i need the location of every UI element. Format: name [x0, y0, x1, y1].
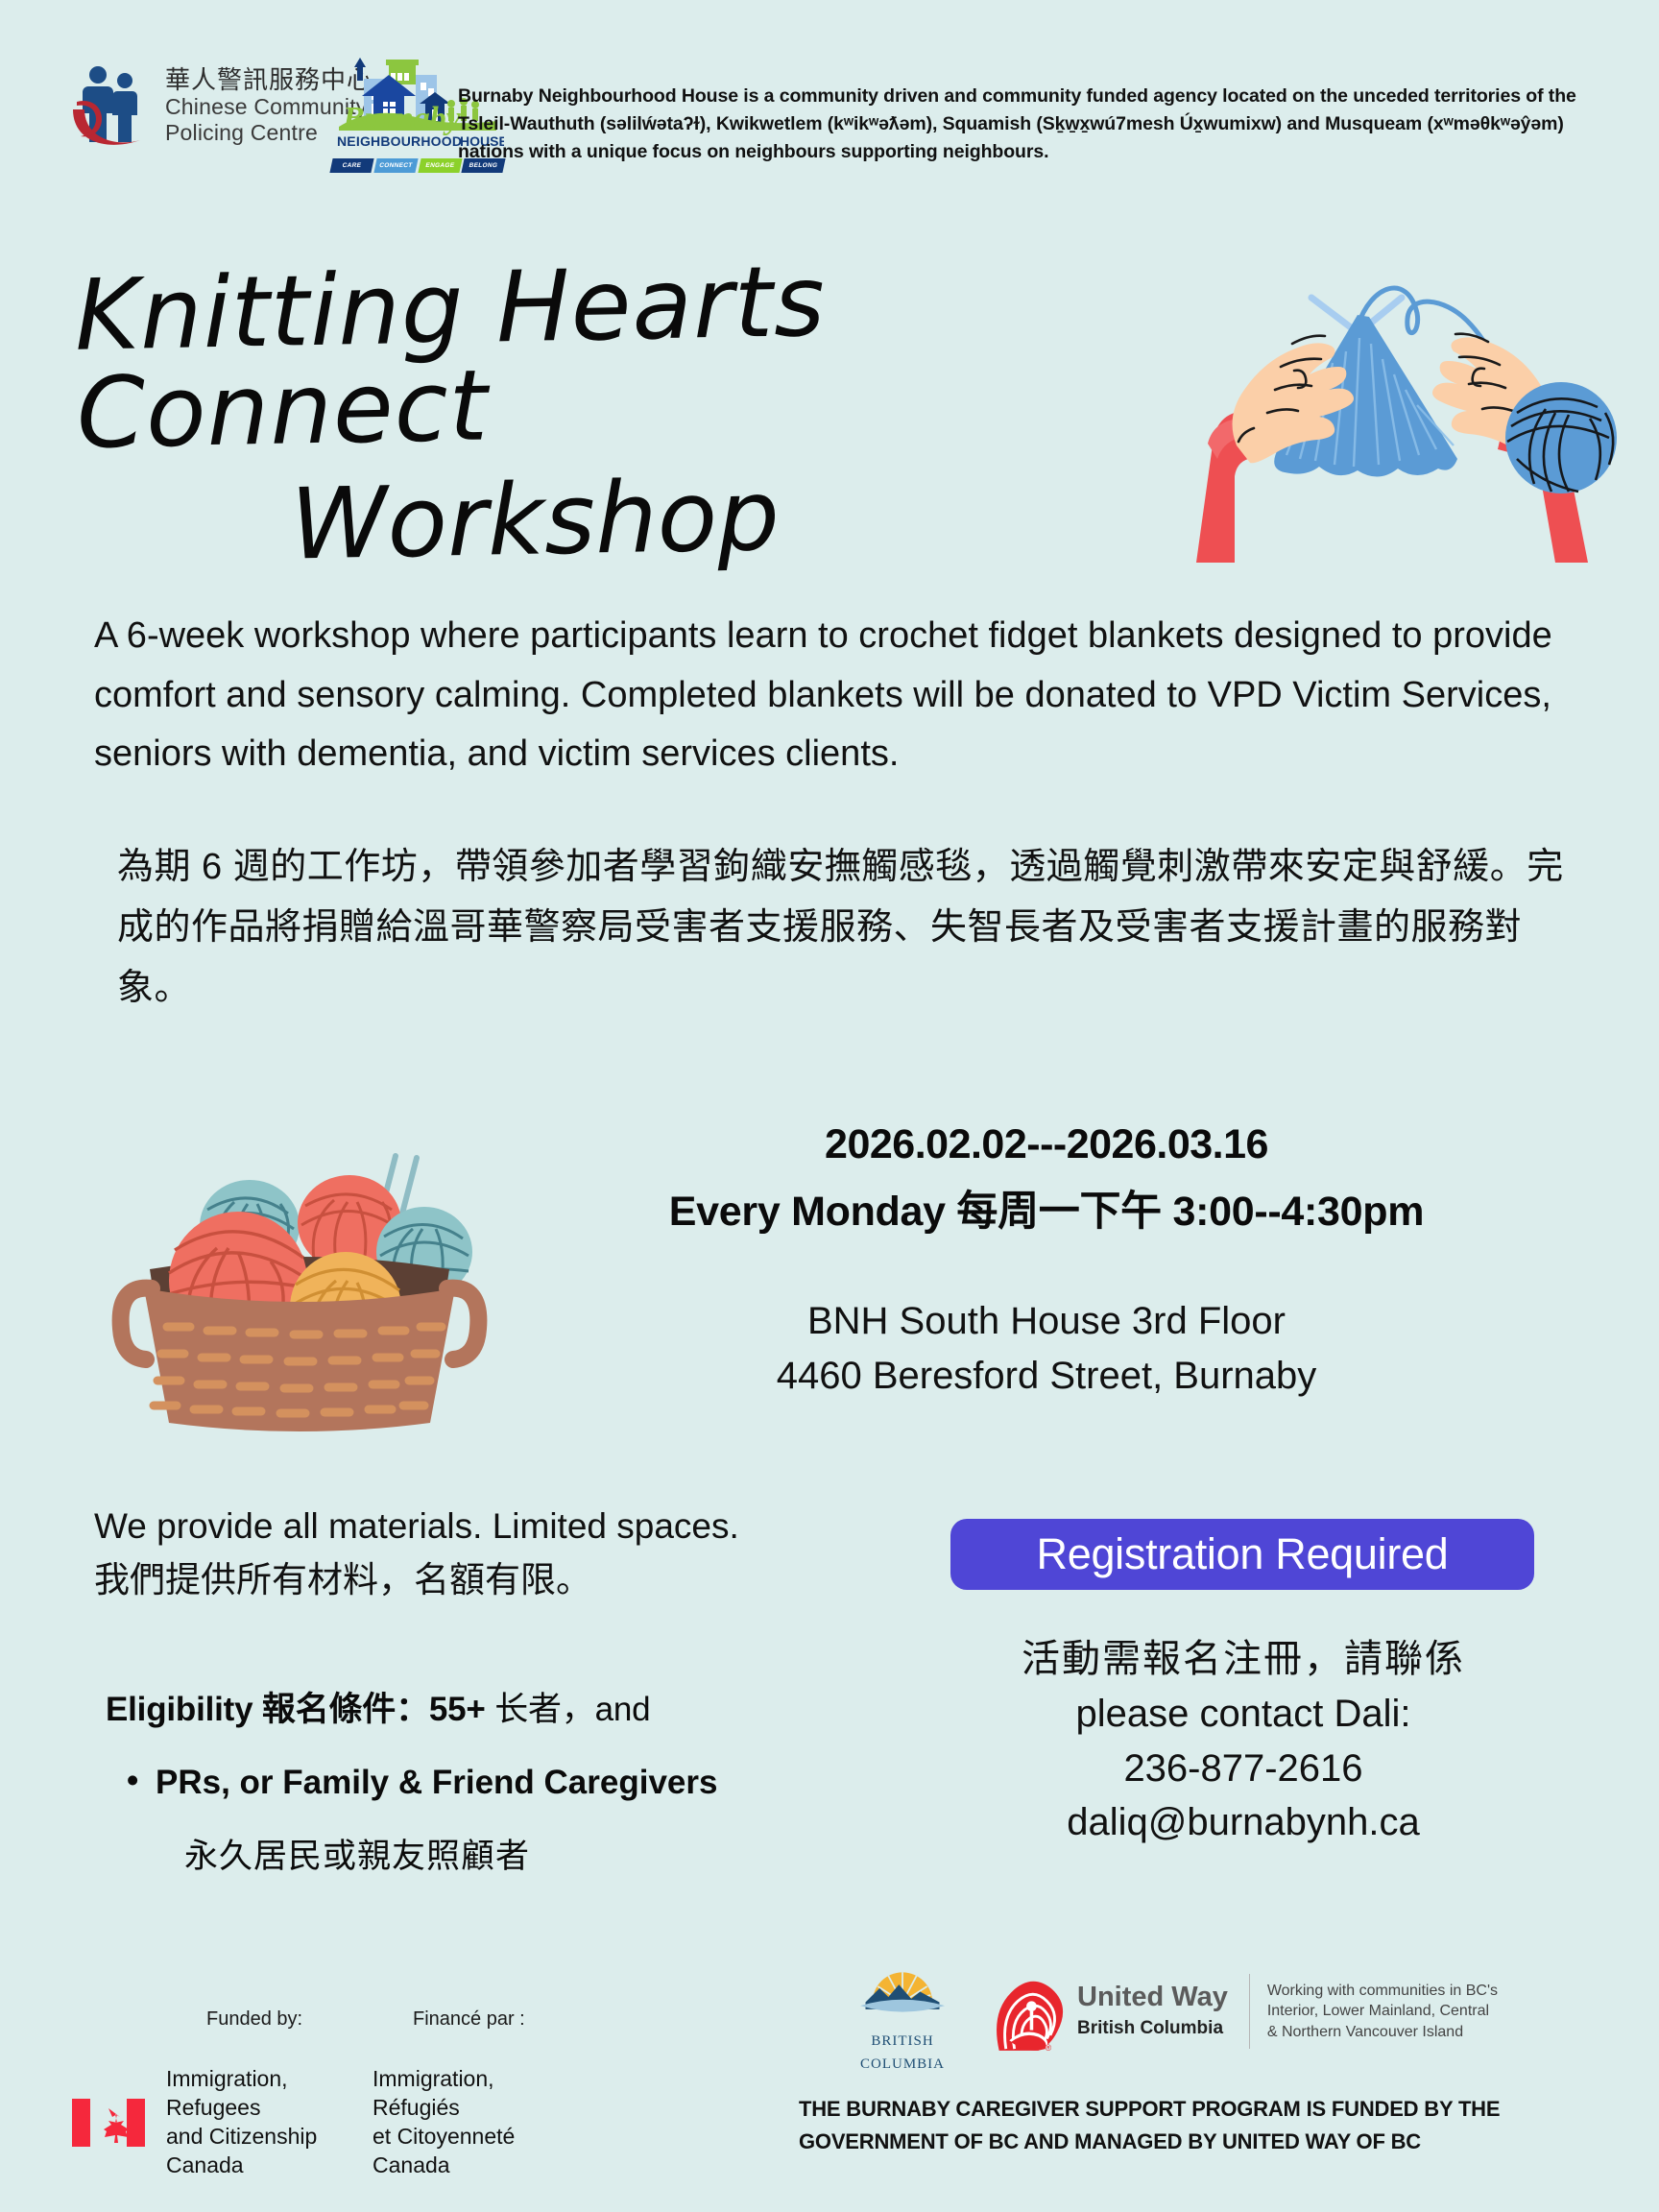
poster-root: 華人警訊服務中心 Chinese Community Policing Cent…: [0, 0, 1659, 2212]
ircc-french-line2: et Citoyenneté Canada: [373, 2123, 579, 2180]
united-way-sub-label: British Columbia: [1077, 2018, 1228, 2039]
footer-funding-block: Funded by: Financé par : Immigration, Re…: [72, 2008, 840, 2180]
registration-required-badge[interactable]: Registration Required: [950, 1519, 1534, 1590]
svg-text:Burnaby: Burnaby: [342, 101, 462, 136]
ircc-logo-row: Immigration, Refugees and Citizenship Ca…: [72, 2065, 840, 2180]
knitting-hands-illustration: [1179, 238, 1621, 565]
contact-block: 活動需報名注冊，請聯係 please contact Dali: 236-877…: [922, 1632, 1565, 1850]
ircc-french-name: Immigration, Réfugiés et Citoyenneté Can…: [373, 2065, 579, 2180]
ircc-english-name: Immigration, Refugees and Citizenship Ca…: [166, 2065, 373, 2180]
location-line1: BNH South House 3rd Floor: [509, 1294, 1584, 1349]
funded-by-french-label: Financé par :: [413, 2008, 525, 2031]
program-funding-note-line1: THE BURNABY CAREGIVER SUPPORT PROGRAM IS…: [799, 2093, 1644, 2126]
united-way-wordmark: United Way British Columbia: [1077, 1984, 1228, 2039]
eligibility-heading: Eligibility 報名條件：55+ 长者，and: [106, 1682, 989, 1731]
bc-wordmark-line2: Columbia: [845, 2050, 960, 2073]
page-title-line2: Workshop: [0, 460, 1155, 582]
program-funding-note: THE BURNABY CAREGIVER SUPPORT PROGRAM IS…: [799, 2093, 1644, 2158]
eligibility-heading-rest: 长者，and: [494, 1691, 650, 1728]
ccpc-emblem-icon: [69, 60, 152, 152]
ircc-french-line1: Immigration, Réfugiés: [373, 2065, 579, 2123]
location-block: BNH South House 3rd Floor 4460 Beresford…: [509, 1294, 1584, 1404]
contact-instruction: please contact Dali:: [922, 1687, 1565, 1742]
united-way-main-label: United Way: [1077, 1984, 1228, 2011]
poster-header: 華人警訊服務中心 Chinese Community Policing Cent…: [0, 38, 1659, 192]
united-way-logo: ® United Way British Columbia Working wi…: [989, 1968, 1498, 2055]
united-way-tagline-line3: & Northern Vancouver Island: [1267, 2022, 1498, 2043]
bc-wordmark-line1: British: [845, 2027, 960, 2050]
materials-chinese: 我們提供所有材料，名額有限。: [94, 1553, 958, 1607]
contact-email[interactable]: daliq@burnabynh.ca: [922, 1795, 1565, 1850]
schedule-date-range: 2026.02.02---2026.03.16: [509, 1121, 1584, 1168]
schedule-block: 2026.02.02---2026.03.16 Every Monday 每周一…: [509, 1121, 1584, 1238]
canada-flag-icon: [72, 2099, 145, 2147]
bnh-tag-engage: ENGAGE: [418, 158, 462, 173]
bnh-tag-connect: CONNECT: [373, 158, 418, 173]
united-way-tagline: Working with communities in BC's Interio…: [1267, 1981, 1498, 2043]
svg-text:®: ®: [1046, 2043, 1052, 2053]
location-line2: 4460 Beresford Street, Burnaby: [509, 1349, 1584, 1404]
materials-english: We provide all materials. Limited spaces…: [94, 1500, 958, 1553]
eligibility-bullet: PRs, or Family & Friend Caregivers: [156, 1764, 989, 1802]
contact-phone[interactable]: 236-877-2616: [922, 1742, 1565, 1796]
land-acknowledgement: Burnaby Neighbourhood House is a communi…: [458, 83, 1615, 166]
united-way-tagline-line1: Working with communities in BC's: [1267, 1981, 1498, 2002]
schedule-weekly-time: Every Monday 每周一下午 3:00--4:30pm: [509, 1178, 1584, 1238]
ircc-english-line2: and Citizenship Canada: [166, 2123, 373, 2180]
united-way-tagline-line2: Interior, Lower Mainland, Central: [1267, 2001, 1498, 2022]
svg-text:NEIGHBOURHOOD: NEIGHBOURHOOD: [337, 133, 462, 149]
contact-chinese-line: 活動需報名注冊，請聯係: [922, 1632, 1565, 1687]
eligibility-heading-bold: Eligibility 報名條件：55+: [106, 1691, 486, 1728]
funded-by-english-label: Funded by:: [206, 2008, 413, 2031]
ircc-english-line1: Immigration, Refugees: [166, 2065, 373, 2123]
bnh-tag-care: CARE: [329, 158, 373, 173]
materials-block: We provide all materials. Limited spaces…: [94, 1500, 958, 1607]
page-title: Knitting Hearts Connect Workshop: [74, 247, 1155, 578]
bc-government-logo: British Columbia: [845, 1951, 960, 2073]
page-title-line1: Knitting Hearts Connect: [74, 247, 1153, 463]
eligibility-block: Eligibility 報名條件：55+ 长者，and PRs, or Fami…: [106, 1682, 989, 1878]
funding-labels: Funded by: Financé par :: [206, 2008, 840, 2031]
description-chinese: 為期 6 週的工作坊，帶領參加者學習鉤織安撫觸感毯，透過觸覺刺激帶來安定與舒緩。…: [117, 837, 1586, 1019]
yarn-basket-illustration: [108, 1135, 492, 1442]
footer-partner-logos: British Columbia ® United Way British Co…: [845, 1951, 1498, 2073]
description-english: A 6-week workshop where participants lea…: [94, 607, 1592, 784]
program-funding-note-line2: GOVERNMENT OF BC AND MANAGED BY UNITED W…: [799, 2126, 1644, 2158]
united-way-divider: [1249, 1974, 1250, 2049]
ccpc-logo: 華人警訊服務中心 Chinese Community Policing Cent…: [69, 60, 373, 152]
bc-sun-mountain-icon: [850, 1951, 955, 2022]
united-way-hand-icon: ®: [989, 1968, 1066, 2055]
eligibility-bullet-chinese: 永久居民或親友照顧者: [184, 1829, 989, 1878]
